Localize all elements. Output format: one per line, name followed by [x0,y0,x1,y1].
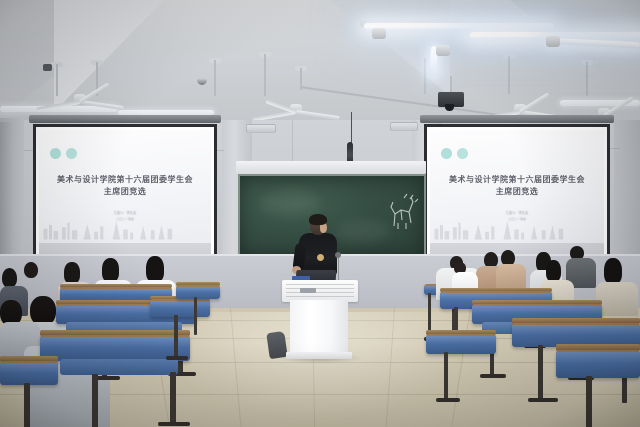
podium-base [286,352,352,359]
speaker-hair [309,214,327,225]
podium-body [290,300,348,358]
slide-title-line2: 主席团竞选 [39,186,211,198]
slide-logo-group [50,148,77,159]
podium-mic-head [335,252,341,258]
ceiling-beam-right [510,0,640,104]
wall-fixture [246,124,276,133]
spot-lamp [436,45,450,56]
slide-surface: 美术与设计学院第十六届团委学生会 主席团竞选 汇报人：学生会 二〇二一年秋 [430,130,604,264]
fan-rod [508,56,510,94]
slide-title-line1: 美术与设计学院第十六届团委学生会 [39,174,211,186]
ceiling-speaker [43,64,52,71]
chalkboard-top-ledge [236,161,426,174]
slide-logo-icon-1 [441,148,452,159]
slide-subtitle-line1: 汇报人：学生会 [39,211,211,216]
backpack [266,331,287,359]
fan-rod [214,60,216,96]
fan-rod [300,68,302,90]
fluorescent-tube [364,23,554,30]
speaker-shirt-logo [317,254,324,261]
hanging-mic-cable [351,112,352,146]
screen-roller-bar [420,115,614,123]
wall-fixture [390,122,418,131]
lecture-hall-photo: 美术与设计学院第十六届团委学生会 主席团竞选 汇报人：学生会 二〇二一年秋 [0,0,640,427]
slide-skyline-graphic [39,218,177,239]
slide-logo-icon-1 [50,148,61,159]
projector-mount-arm [450,76,452,92]
spot-lamp [372,28,386,39]
fan-rod [586,62,588,96]
chalk-drawing [380,190,424,234]
slide-skyline-graphic [430,218,568,239]
slide-logo-icon-2 [66,148,77,159]
slide-surface: 美术与设计学院第十六届团委学生会 主席团竞选 汇报人：学生会 二〇二一年秋 [39,130,211,264]
left-screen[interactable]: 美术与设计学院第十六届团委学生会 主席团竞选 汇报人：学生会 二〇二一年秋 [33,124,217,270]
projector-lens [445,104,454,111]
ceiling-beam-left-inner [54,0,164,112]
podium-badge [300,288,316,293]
podium-vent-slats [286,284,354,298]
podium-mic-stem [338,256,339,282]
slide-title-line1: 美术与设计学院第十六届团委学生会 [430,174,604,186]
projector [438,92,464,107]
fan-rod [264,54,266,96]
wall-seam [292,120,293,162]
screen-roller-bar [29,115,221,123]
slide-subtitle-line1: 汇报人：学生会 [430,211,604,216]
chalk-smudge [260,190,320,216]
fan-rod [424,58,426,94]
fan-rod [56,64,58,96]
slide-logo-group [441,148,468,159]
slide-title-line2: 主席团竞选 [430,186,604,198]
screen-frame: 美术与设计学院第十六届团委学生会 主席团竞选 汇报人：学生会 二〇二一年秋 [33,124,217,270]
slide-logo-icon-2 [457,148,468,159]
spot-lamp [546,36,560,47]
